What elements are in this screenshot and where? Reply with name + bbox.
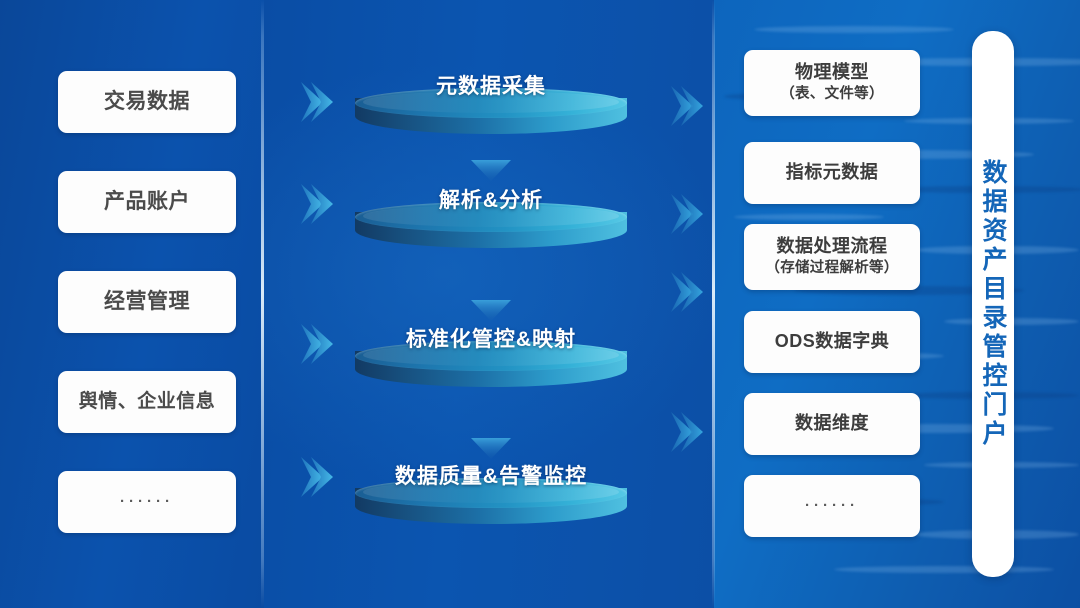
source-card-2-label: 产品账户 [104, 189, 190, 215]
output-card-2-line1: 指标元数据 [786, 162, 879, 184]
source-card-5-label: ······ [120, 493, 174, 511]
pipeline-stage-3[interactable]: 标准化管控&映射 [355, 341, 627, 397]
source-card-4[interactable]: 舆情、企业信息 [58, 371, 236, 433]
source-card-3[interactable]: 经营管理 [58, 271, 236, 333]
pipeline-stage-4[interactable]: 数据质量&告警监控 [355, 478, 627, 534]
divider-left [261, 0, 264, 608]
arrow-right-icon-out-1 [669, 84, 703, 128]
source-card-3-label: 经营管理 [104, 289, 190, 315]
output-card-4[interactable]: ODS数据字典 [744, 311, 920, 373]
pipeline-stage-2-label: 解析&分析 [355, 184, 627, 214]
output-card-3-line2: （存储过程解析等） [765, 260, 898, 278]
arrow-right-icon-out-3 [669, 270, 703, 314]
output-card-5[interactable]: 数据维度 [744, 393, 920, 455]
chevron-down-icon-2 [471, 300, 511, 322]
output-card-6-line1: ······ [805, 497, 859, 515]
portal-panel-title: 数据资产目录管控门户 [975, 159, 1011, 449]
output-card-3[interactable]: 数据处理流程 （存储过程解析等） [744, 224, 920, 290]
pipeline-stage-4-label: 数据质量&告警监控 [355, 460, 627, 490]
arrow-right-icon-in-1 [299, 80, 333, 124]
pipeline-stage-1[interactable]: 元数据采集 [355, 88, 627, 144]
source-card-1[interactable]: 交易数据 [58, 71, 236, 133]
pipeline-stage-1-label: 元数据采集 [355, 70, 627, 100]
output-card-1-line2: （表、文件等） [780, 86, 884, 104]
output-card-4-line1: ODS数据字典 [775, 331, 890, 353]
output-card-1-line1: 物理模型 [795, 62, 869, 84]
arrow-right-icon-in-3 [299, 322, 333, 366]
diagram-canvas: 交易数据 产品账户 经营管理 舆情、企业信息 ······ 元数据采集 解析&分… [0, 0, 1080, 608]
source-card-2[interactable]: 产品账户 [58, 171, 236, 233]
source-card-5[interactable]: ······ [58, 471, 236, 533]
divider-right [712, 0, 715, 608]
arrow-right-icon-in-2 [299, 182, 333, 226]
chevron-down-icon-1 [471, 160, 511, 182]
output-card-3-line1: 数据处理流程 [777, 236, 888, 258]
arrow-right-icon-in-4 [299, 455, 333, 499]
pipeline-stage-3-label: 标准化管控&映射 [355, 323, 627, 353]
output-card-1[interactable]: 物理模型 （表、文件等） [744, 50, 920, 116]
pipeline-stage-2[interactable]: 解析&分析 [355, 202, 627, 258]
output-card-5-line1: 数据维度 [795, 413, 869, 435]
output-card-2[interactable]: 指标元数据 [744, 142, 920, 204]
arrow-right-icon-out-2 [669, 192, 703, 236]
output-card-6[interactable]: ······ [744, 475, 920, 537]
chevron-down-icon-3 [471, 438, 511, 460]
arrow-right-icon-out-4 [669, 410, 703, 454]
portal-panel[interactable]: 数据资产目录管控门户 [972, 31, 1014, 577]
source-card-1-label: 交易数据 [104, 89, 190, 115]
source-card-4-label: 舆情、企业信息 [79, 390, 216, 413]
